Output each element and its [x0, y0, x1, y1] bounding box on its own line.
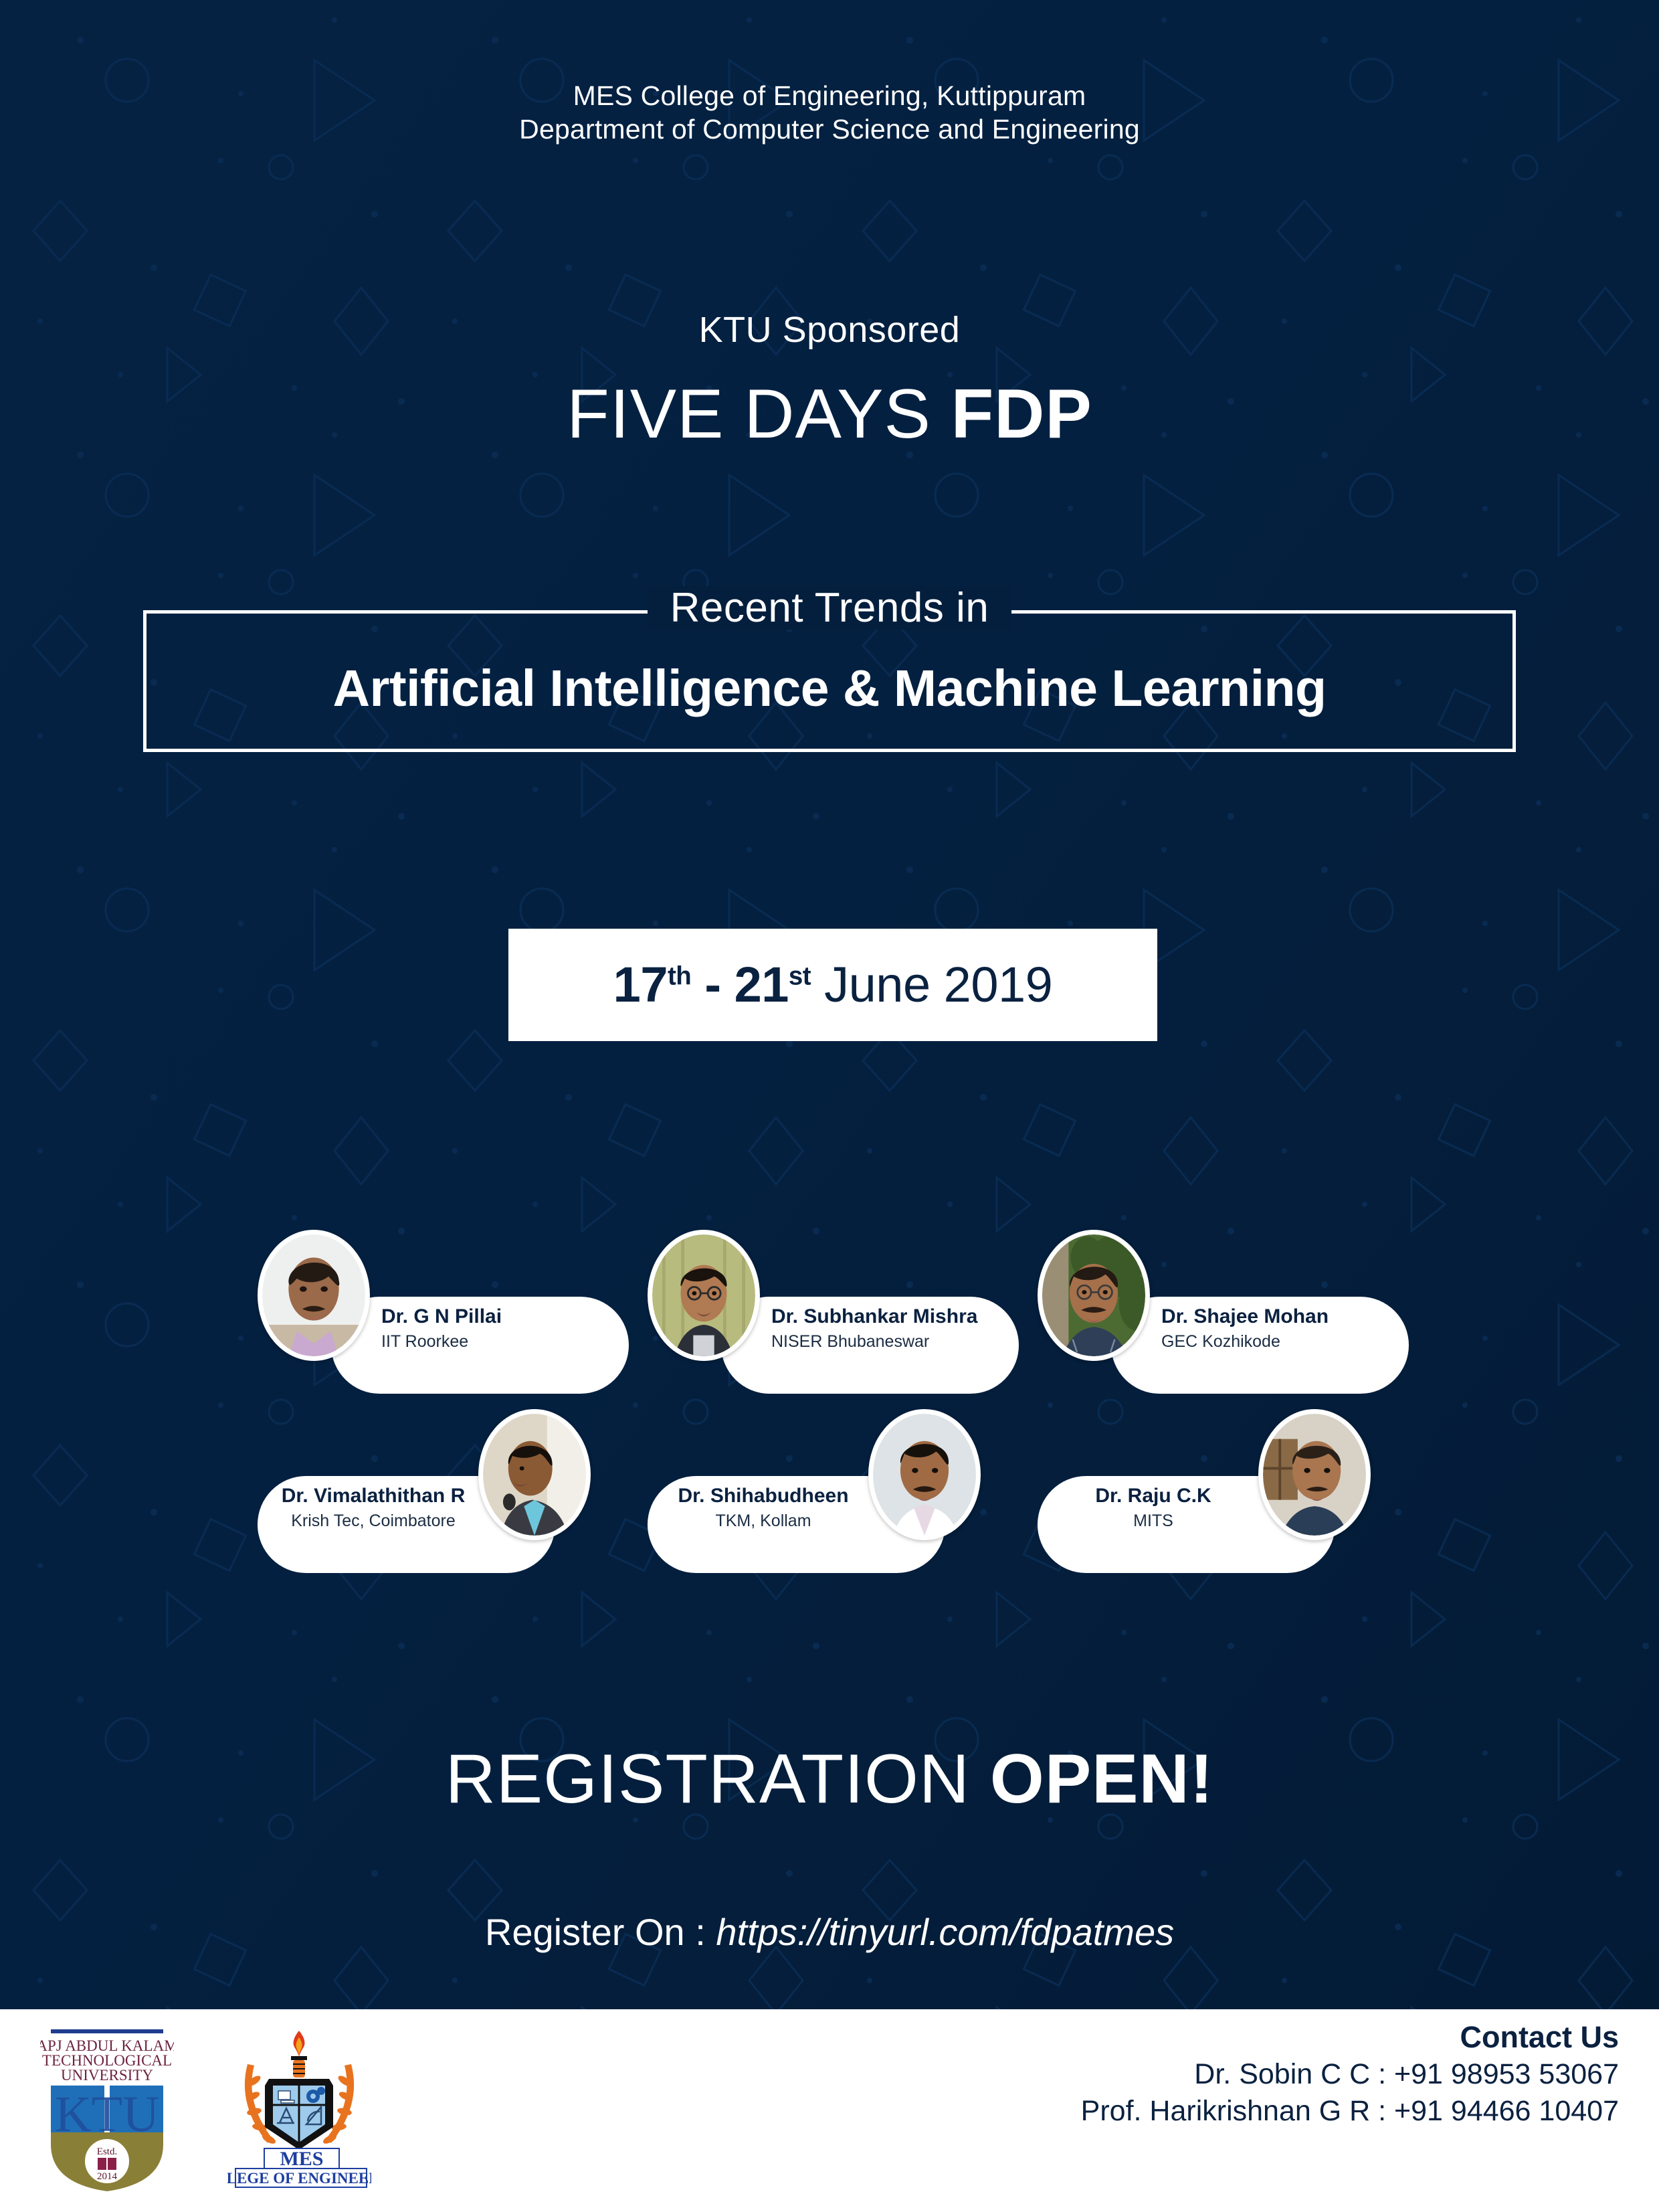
topic-title: Artificial Intelligence & Machine Learni… [0, 659, 1659, 719]
speakers-section: Dr. G N Pillai IIT Roorkee [0, 1230, 1659, 1583]
svg-text:2014: 2014 [97, 2171, 118, 2182]
speaker-card[interactable]: Dr. Shihabudheen TKM, Kollam [648, 1409, 1022, 1576]
contact-line-1: Dr. Sobin C C : +91 98953 53067 [1081, 2056, 1619, 2093]
speaker-text: Dr. Vimalathithan R Krish Tec, Coimbator… [270, 1484, 477, 1532]
speaker-card[interactable]: Dr. Vimalathithan R Krish Tec, Coimbator… [258, 1409, 632, 1576]
speaker-text: Dr. Subhankar Mishra NISER Bhubaneswar [771, 1305, 972, 1353]
footer: APJ ABDUL KALAM TECHNOLOGICAL UNIVERSITY… [0, 2009, 1659, 2212]
speaker-name: Dr. Subhankar Mishra [771, 1305, 972, 1328]
contact-heading: Contact Us [1081, 2019, 1619, 2056]
speaker-text: Dr. Shihabudheen TKM, Kollam [660, 1484, 867, 1532]
speaker-photo [648, 1230, 760, 1361]
topic-kicker-text: Recent Trends in [648, 586, 1012, 630]
registration-headline-bold: OPEN! [990, 1740, 1213, 1818]
date-badge: 17th - 21st June 2019 [508, 929, 1157, 1041]
contact-line-2: Prof. Harikrishnan G R : +91 94466 10407 [1081, 2093, 1619, 2130]
mes-college-logo: MES COLLEGE OF ENGINEERING [227, 2024, 371, 2191]
speaker-affiliation: Krish Tec, Coimbatore [270, 1510, 477, 1532]
speaker-photo [478, 1409, 591, 1540]
topic-kicker: Recent Trends in [0, 584, 1659, 632]
speaker-card[interactable]: Dr. G N Pillai IIT Roorkee [258, 1230, 632, 1397]
date-text: 17th - 21st June 2019 [613, 960, 1053, 1010]
sponsor-label: KTU Sponsored [0, 309, 1659, 351]
speaker-photo [868, 1409, 981, 1540]
speaker-card[interactable]: Dr. Shajee Mohan GEC Kozhikode [1038, 1230, 1412, 1397]
svg-text:UNIVERSITY: UNIVERSITY [61, 2067, 153, 2084]
organisation-header: MES College of Engineering, Kuttippuram … [0, 79, 1659, 146]
speaker-text: Dr. Raju C.K MITS [1050, 1484, 1257, 1532]
speaker-card[interactable]: Dr. Subhankar Mishra NISER Bhubaneswar [648, 1230, 1022, 1397]
date-month-year: June 2019 [811, 957, 1052, 1012]
event-title-light: FIVE DAYS [567, 375, 951, 453]
speaker-affiliation: GEC Kozhikode [1161, 1331, 1362, 1353]
date-start-suffix: th [668, 961, 691, 990]
speaker-name: Dr. Shihabudheen [660, 1484, 867, 1507]
register-url[interactable]: https://tinyurl.com/fdpatmes [716, 1911, 1174, 1953]
date-end-suffix: st [789, 961, 811, 990]
ktu-logo: APJ ABDUL KALAM TECHNOLOGICAL UNIVERSITY… [40, 2024, 174, 2191]
speaker-affiliation: NISER Bhubaneswar [771, 1331, 972, 1353]
date-start: 17 [613, 957, 668, 1012]
speaker-affiliation: TKM, Kollam [660, 1510, 867, 1532]
speaker-photo [1258, 1409, 1371, 1540]
speaker-name: Dr. Vimalathithan R [270, 1484, 477, 1507]
date-separator: - [691, 957, 734, 1012]
contact-block: Contact Us Dr. Sobin C C : +91 98953 530… [1081, 2019, 1619, 2130]
speaker-photo [1038, 1230, 1150, 1361]
svg-text:KTU: KTU [55, 2086, 159, 2142]
date-end: 21 [735, 957, 789, 1012]
speaker-affiliation: IIT Roorkee [381, 1331, 582, 1353]
svg-text:COLLEGE OF ENGINEERING: COLLEGE OF ENGINEERING [227, 2170, 371, 2187]
college-name: MES College of Engineering, Kuttippuram [0, 79, 1659, 112]
speaker-card[interactable]: Dr. Raju C.K MITS [1038, 1409, 1412, 1576]
speakers-row-1: Dr. G N Pillai IIT Roorkee [0, 1230, 1659, 1404]
registration-link-line: Register On : https://tinyurl.com/fdpatm… [0, 1910, 1659, 1954]
speaker-text: Dr. Shajee Mohan GEC Kozhikode [1161, 1305, 1362, 1353]
event-title-bold: FDP [951, 375, 1092, 453]
speakers-row-2: Dr. Vimalathithan R Krish Tec, Coimbator… [0, 1409, 1659, 1583]
speaker-name: Dr. G N Pillai [381, 1305, 582, 1328]
department-name: Department of Computer Science and Engin… [0, 112, 1659, 146]
svg-text:MES: MES [280, 2148, 323, 2170]
registration-headline-light: REGISTRATION [446, 1740, 990, 1818]
event-title: FIVE DAYS FDP [0, 375, 1659, 454]
speaker-text: Dr. G N Pillai IIT Roorkee [381, 1305, 582, 1353]
speaker-affiliation: MITS [1050, 1510, 1257, 1532]
register-label: Register On : [485, 1911, 716, 1953]
registration-headline: REGISTRATION OPEN! [0, 1740, 1659, 1819]
speaker-photo [258, 1230, 370, 1361]
svg-text:Estd.: Estd. [97, 2146, 117, 2157]
speaker-name: Dr. Raju C.K [1050, 1484, 1257, 1507]
speaker-name: Dr. Shajee Mohan [1161, 1305, 1362, 1328]
footer-logos: APJ ABDUL KALAM TECHNOLOGICAL UNIVERSITY… [40, 2024, 371, 2191]
